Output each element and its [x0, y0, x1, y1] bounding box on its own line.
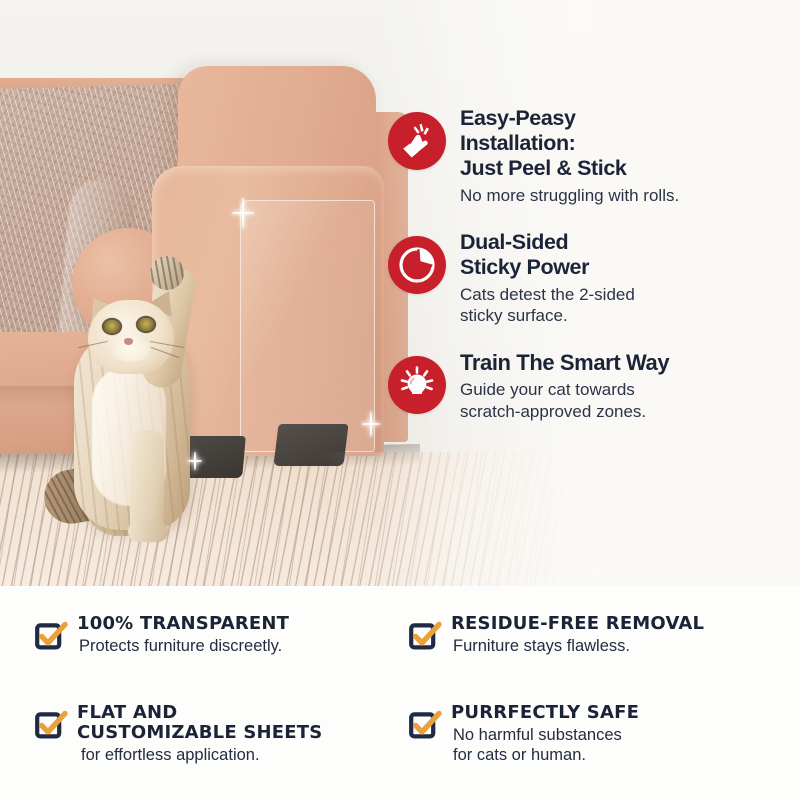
hand-click-icon — [388, 112, 446, 170]
feature-text: Dual-Sided Sticky Power Cats detest the … — [460, 228, 635, 326]
checkbox-orange-check-icon — [34, 620, 66, 650]
checklist-title-line: CUSTOMIZABLE SHEETS — [77, 723, 322, 743]
feature-title-line: Train The Smart Way — [460, 350, 669, 376]
checklist-title-line: PURRFECTLY SAFE — [451, 703, 639, 723]
checkbox-orange-check-icon — [408, 620, 440, 650]
checklist-item-flat-sheets: FLAT AND CUSTOMIZABLE SHEETS for effortl… — [34, 701, 400, 790]
feature-subtitle: Cats detest the 2-sided sticky surface. — [460, 284, 635, 326]
benefits-checklist: 100% TRANSPARENT Protects furniture disc… — [0, 598, 800, 800]
checklist-item-residue-free: RESIDUE-FREE REMOVAL Furniture stays fla… — [408, 612, 774, 701]
checklist-subtitle: Protects furniture discreetly. — [77, 636, 289, 656]
feature-subtitle-line: scratch-approved zones. — [460, 401, 669, 422]
checklist-title-line: RESIDUE-FREE REMOVAL — [451, 614, 704, 634]
checklist-subtitle-line: Protects furniture discreetly. — [79, 636, 289, 656]
feature-subtitle-line: Guide your cat towards — [460, 379, 669, 400]
checklist-item-purrfectly-safe: PURRFECTLY SAFE No harmful substances fo… — [408, 701, 774, 790]
feature-item-dual-sided: Dual-Sided Sticky Power Cats detest the … — [388, 228, 794, 326]
protector-sheet — [240, 200, 375, 452]
checklist-subtitle: No harmful substances for cats or human. — [451, 725, 639, 765]
checklist-subtitle: for effortless application. — [77, 745, 322, 765]
feature-subtitle: Guide your cat towards scratch-approved … — [460, 379, 669, 421]
checklist-subtitle-line: Furniture stays flawless. — [453, 636, 704, 656]
feature-title: Easy-Peasy Installation: Just Peel & Sti… — [460, 106, 679, 181]
feature-title-line: Just Peel & Stick — [460, 156, 679, 181]
checklist-title-line: FLAT AND — [77, 703, 322, 723]
feature-item-installation: Easy-Peasy Installation: Just Peel & Sti… — [388, 104, 794, 206]
checklist-text: 100% TRANSPARENT Protects furniture disc… — [77, 612, 289, 656]
feature-title-line: Installation: — [460, 131, 679, 156]
feature-item-training: Train The Smart Way Guide your cat towar… — [388, 348, 794, 422]
checklist-subtitle-line: for effortless application. — [81, 745, 322, 765]
checklist-text: RESIDUE-FREE REMOVAL Furniture stays fla… — [451, 612, 704, 656]
checklist-title-line: 100% TRANSPARENT — [77, 614, 289, 634]
checklist-text: FLAT AND CUSTOMIZABLE SHEETS for effortl… — [77, 701, 322, 765]
checklist-subtitle-line: No harmful substances — [453, 725, 639, 745]
checklist-title: FLAT AND CUSTOMIZABLE SHEETS — [77, 703, 322, 743]
cat-eye-left — [104, 320, 120, 333]
feature-subtitle-line: Cats detest the 2-sided — [460, 284, 635, 305]
checklist-text: PURRFECTLY SAFE No harmful substances fo… — [451, 701, 639, 765]
checkbox-orange-check-icon — [408, 709, 440, 739]
checklist-title: PURRFECTLY SAFE — [451, 703, 639, 723]
cat-eye-right — [138, 318, 154, 331]
feature-subtitle-line: sticky surface. — [460, 305, 635, 326]
feature-title-line: Easy-Peasy — [460, 106, 679, 131]
feature-subtitle: No more struggling with rolls. — [460, 185, 679, 206]
feature-title: Dual-Sided Sticky Power — [460, 230, 635, 280]
cat-nose — [124, 338, 133, 345]
checklist-title: RESIDUE-FREE REMOVAL — [451, 614, 704, 634]
feature-title: Train The Smart Way — [460, 350, 669, 376]
checklist-title: 100% TRANSPARENT — [77, 614, 289, 634]
feature-text: Easy-Peasy Installation: Just Peel & Sti… — [460, 104, 679, 206]
lightbulb-icon — [388, 356, 446, 414]
checklist-subtitle: Furniture stays flawless. — [451, 636, 704, 656]
feature-subtitle-line: No more struggling with rolls. — [460, 185, 679, 206]
checklist-subtitle-line: for cats or human. — [453, 745, 639, 765]
checklist-item-transparent: 100% TRANSPARENT Protects furniture disc… — [34, 612, 400, 701]
feature-title-line: Dual-Sided — [460, 230, 635, 255]
feature-text: Train The Smart Way Guide your cat towar… — [460, 348, 669, 422]
checkbox-orange-check-icon — [34, 709, 66, 739]
infographic-page: Easy-Peasy Installation: Just Peel & Sti… — [0, 0, 800, 800]
peeling-sticker-icon — [388, 236, 446, 294]
feature-list: Easy-Peasy Installation: Just Peel & Sti… — [388, 104, 794, 444]
feature-title-line: Sticky Power — [460, 255, 635, 280]
